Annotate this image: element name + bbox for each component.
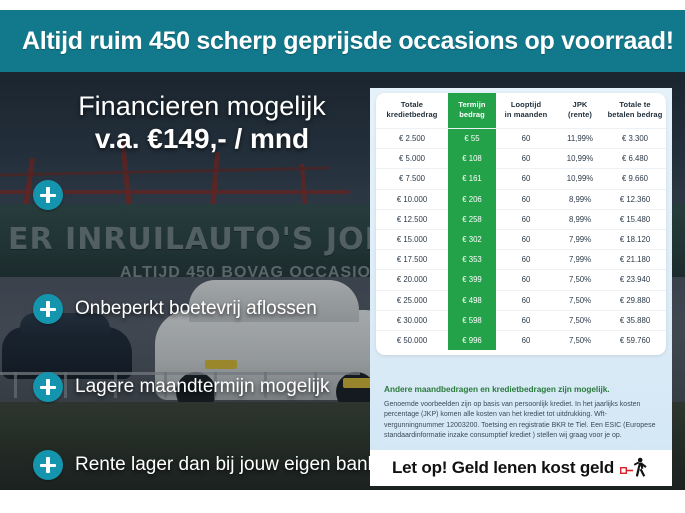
table-cell: € 23.940	[604, 270, 666, 290]
table-cell: 60	[496, 169, 556, 189]
finance-info-panel: Totale kredietbedrag Termijn bedrag Loop…	[370, 88, 672, 484]
plus-icon	[33, 294, 63, 324]
table-cell: € 258	[448, 209, 496, 229]
table-cell: 7,99%	[556, 229, 604, 249]
afm-warning-band: Let op! Geld lenen kost geld	[370, 450, 672, 486]
benefit-item-0: Onbeperkt boetevrij aflossen	[33, 294, 317, 324]
table-cell: 7,50%	[556, 270, 604, 290]
table-cell: € 12.500	[376, 209, 448, 229]
table-cell: € 29.880	[604, 290, 666, 310]
table-cell: € 12.360	[604, 189, 666, 209]
table-cell: € 108	[448, 149, 496, 169]
table-row: € 7.500€ 1616010,99%€ 9.660	[376, 169, 666, 189]
table-cell: 60	[496, 310, 556, 330]
column-header-jpk: JPK (rente)	[556, 93, 604, 129]
table-cell: € 996	[448, 330, 496, 350]
finance-table: Totale kredietbedrag Termijn bedrag Loop…	[376, 93, 666, 350]
table-cell: € 7.500	[376, 169, 448, 189]
table-row: € 20.000€ 399607,50%€ 23.940	[376, 270, 666, 290]
table-cell: € 50.000	[376, 330, 448, 350]
column-header-totale-kredietbedrag: Totale kredietbedrag	[376, 93, 448, 129]
table-row: € 25.000€ 498607,50%€ 29.880	[376, 290, 666, 310]
table-row: € 10.000€ 206608,99%€ 12.360	[376, 189, 666, 209]
finance-table-body: € 2.500€ 556011,99%€ 3.300€ 5.000€ 10860…	[376, 129, 666, 351]
table-cell: € 302	[448, 229, 496, 249]
table-cell: € 3.300	[604, 129, 666, 149]
table-row: € 15.000€ 302607,99%€ 18.120	[376, 229, 666, 249]
table-cell: € 498	[448, 290, 496, 310]
table-cell: 60	[496, 209, 556, 229]
table-cell: 60	[496, 330, 556, 350]
table-row: € 30.000€ 598607,50%€ 35.880	[376, 310, 666, 330]
table-cell: € 9.660	[604, 169, 666, 189]
table-cell: € 35.880	[604, 310, 666, 330]
benefit-label: Lagere maandtermijn mogelijk	[75, 376, 330, 398]
table-cell: 7,50%	[556, 290, 604, 310]
table-cell: 10,99%	[556, 149, 604, 169]
table-row: € 17.500€ 353607,99%€ 21.180	[376, 250, 666, 270]
table-cell: € 30.000	[376, 310, 448, 330]
benefit-label: Rente lager dan bij jouw eigen bank	[75, 454, 377, 476]
afm-warning-text: Let op! Geld lenen kost geld	[392, 458, 614, 478]
table-cell: 60	[496, 149, 556, 169]
table-row: € 50.000€ 996607,50%€ 59.760	[376, 330, 666, 350]
table-cell: 60	[496, 290, 556, 310]
table-cell: € 18.120	[604, 229, 666, 249]
finance-headline-line2: v.a. €149,- / mnd	[32, 122, 372, 156]
table-cell: 7,99%	[556, 250, 604, 270]
plus-icon	[33, 372, 63, 402]
table-cell: € 25.000	[376, 290, 448, 310]
plus-icon	[33, 450, 63, 480]
table-cell: € 55	[448, 129, 496, 149]
finance-headline: Financieren mogelijk v.a. €149,- / mnd	[32, 90, 372, 156]
note-body: Genoemde voorbeelden zijn op basis van p…	[384, 400, 656, 442]
table-cell: 11,99%	[556, 129, 604, 149]
table-cell: € 598	[448, 310, 496, 330]
plus-icon	[33, 180, 63, 210]
table-cell: € 15.000	[376, 229, 448, 249]
afm-walking-man-icon	[620, 457, 650, 479]
banner-headline: Altijd ruim 450 scherp geprijsde occasio…	[0, 27, 674, 56]
table-cell: € 161	[448, 169, 496, 189]
benefits-list: Financieren mogelijk v.a. €149,- / mnd O…	[0, 72, 372, 490]
table-cell: € 15.480	[604, 209, 666, 229]
top-banner: Altijd ruim 450 scherp geprijsde occasio…	[0, 10, 685, 72]
table-cell: € 20.000	[376, 270, 448, 290]
finance-table-card: Totale kredietbedrag Termijn bedrag Loop…	[376, 93, 666, 355]
table-cell: 60	[496, 189, 556, 209]
column-header-totale-te-betalen: Totale te betalen bedrag	[604, 93, 666, 129]
table-cell: 7,50%	[556, 310, 604, 330]
table-cell: € 2.500	[376, 129, 448, 149]
table-cell: € 59.760	[604, 330, 666, 350]
table-cell: 60	[496, 270, 556, 290]
benefit-label: Onbeperkt boetevrij aflossen	[75, 298, 317, 320]
finance-headline-line1: Financieren mogelijk	[32, 90, 372, 122]
note-title: Andere maandbedragen en kredietbedragen …	[384, 384, 666, 394]
promo-banner-frame: Altijd ruim 450 scherp geprijsde occasio…	[0, 10, 685, 490]
table-cell: € 5.000	[376, 149, 448, 169]
table-cell: 7,50%	[556, 330, 604, 350]
table-cell: 60	[496, 129, 556, 149]
table-cell: € 399	[448, 270, 496, 290]
benefit-item-1: Lagere maandtermijn mogelijk	[33, 372, 330, 402]
table-row: € 12.500€ 258608,99%€ 15.480	[376, 209, 666, 229]
column-header-termijn-bedrag: Termijn bedrag	[448, 93, 496, 129]
table-cell: € 6.480	[604, 149, 666, 169]
table-cell: € 353	[448, 250, 496, 270]
table-cell: € 206	[448, 189, 496, 209]
finance-table-header-row: Totale kredietbedrag Termijn bedrag Loop…	[376, 93, 666, 129]
table-cell: € 10.000	[376, 189, 448, 209]
table-cell: 8,99%	[556, 189, 604, 209]
table-cell: € 21.180	[604, 250, 666, 270]
table-row: € 5.000€ 1086010,99%€ 6.480	[376, 149, 666, 169]
column-header-looptijd: Looptijd in maanden	[496, 93, 556, 129]
table-cell: 10,99%	[556, 169, 604, 189]
table-cell: 60	[496, 250, 556, 270]
table-cell: 8,99%	[556, 209, 604, 229]
benefit-item-2: Rente lager dan bij jouw eigen bank	[33, 450, 377, 480]
table-cell: € 17.500	[376, 250, 448, 270]
table-cell: 60	[496, 229, 556, 249]
table-row: € 2.500€ 556011,99%€ 3.300	[376, 129, 666, 149]
